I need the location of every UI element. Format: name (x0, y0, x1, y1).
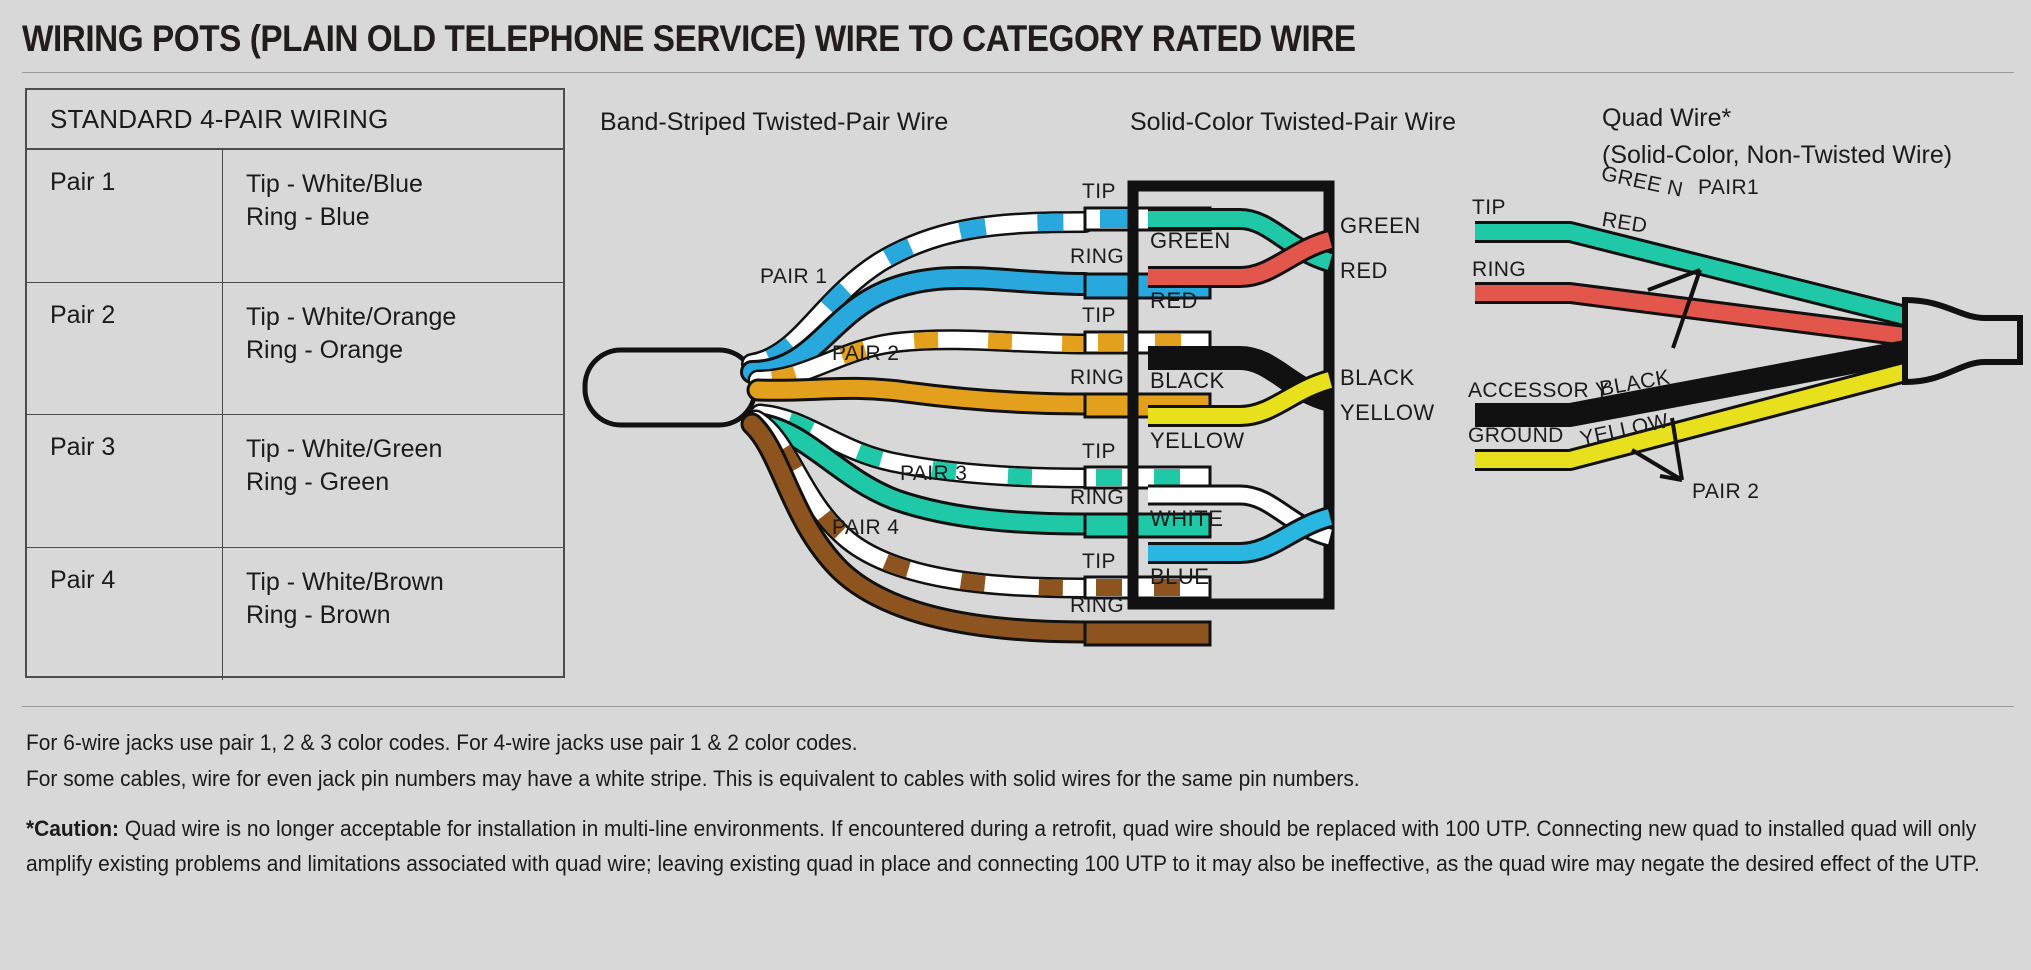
label-quad-pair-1: PAIR1 (1698, 176, 1759, 200)
label-ring-pair-2: RING (1070, 366, 1124, 390)
label-ring-pair-4: RING (1070, 594, 1124, 618)
label-solid-yellow-out: YELLOW (1340, 400, 1435, 426)
label-solid-red-in: RED (1150, 288, 1198, 314)
label-solid-red-out: RED (1340, 258, 1388, 284)
label-quad-accessory: ACCESSOR Y (1468, 379, 1609, 403)
caution-paragraph: *Caution: Quad wire is no longer accepta… (26, 812, 2016, 882)
footnote-line-1: For 6-wire jacks use pair 1, 2 & 3 color… (26, 730, 858, 756)
diagram-page: WIRING POTS (PLAIN OLD TELEPHONE SERVICE… (0, 0, 2031, 970)
footnote-line-2: For some cables, wire for even jack pin … (26, 766, 1360, 792)
label-pair-2: PAIR 2 (832, 342, 899, 366)
label-quad-ground: GROUND (1468, 424, 1564, 448)
label-quad-ring: RING (1472, 258, 1526, 282)
label-solid-yellow-in: YELLOW (1150, 428, 1245, 454)
label-pair-1: PAIR 1 (760, 265, 827, 289)
label-quad-pair-2: PAIR 2 (1692, 480, 1759, 504)
label-ring-pair-3: RING (1070, 486, 1124, 510)
label-tip-pair-1: TIP (1082, 180, 1116, 204)
cable-jacket (585, 350, 755, 425)
label-solid-white-in: WHITE (1150, 506, 1223, 532)
divider-bottom (22, 706, 2014, 707)
label-solid-black-out: BLACK (1340, 365, 1415, 391)
label-tip-pair-3: TIP (1082, 440, 1116, 464)
label-quad-tip: TIP (1472, 196, 1506, 220)
label-pair-4: PAIR 4 (832, 516, 899, 540)
caution-label: *Caution: (26, 816, 119, 841)
label-solid-black-in: BLACK (1150, 368, 1225, 394)
caution-text: Quad wire is no longer acceptable for in… (26, 816, 1980, 876)
label-ring-pair-1: RING (1070, 245, 1124, 269)
label-tip-pair-2: TIP (1082, 304, 1116, 328)
label-solid-green-out: GREEN (1340, 213, 1421, 239)
label-tip-pair-4: TIP (1082, 550, 1116, 574)
label-solid-green-in: GREEN (1150, 228, 1231, 254)
label-pair-3: PAIR 3 (900, 462, 967, 486)
label-solid-blue-in: BLUE (1150, 564, 1209, 590)
